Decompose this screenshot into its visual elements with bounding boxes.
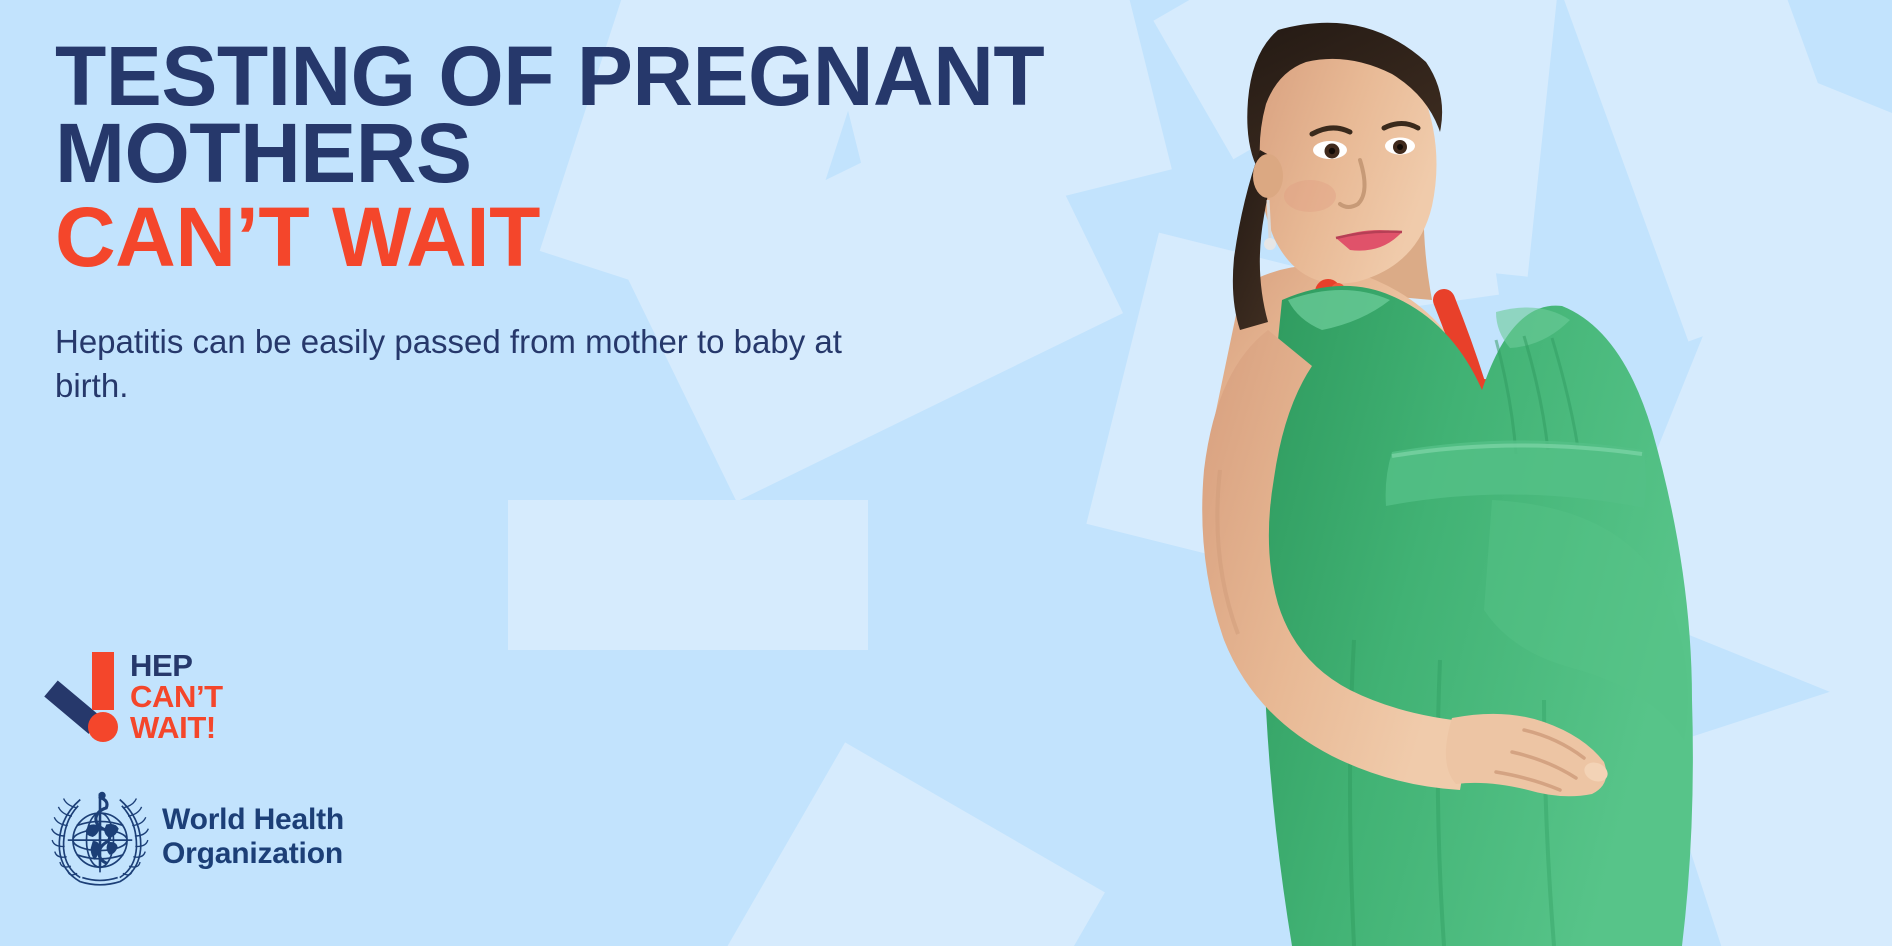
exclamation-mark-icon (52, 650, 124, 754)
campaign-banner: TESTING OF PREGNANT MOTHERS CAN’T WAIT H… (0, 0, 1892, 946)
headline-line-2: MOTHERS (55, 115, 1175, 192)
who-wordmark: World Health Organization (162, 803, 344, 870)
decor-shape (1597, 79, 1892, 722)
headline: TESTING OF PREGNANT MOTHERS CAN’T WAIT (55, 38, 1175, 282)
decor-shape (1657, 668, 1892, 946)
decor-shape (508, 500, 868, 650)
subtitle: Hepatitis can be easily passed from moth… (55, 320, 855, 407)
exclamation-dot-icon (88, 712, 118, 742)
decor-shape (1086, 233, 1333, 568)
decor-shape (1153, 0, 1406, 159)
decor-shape (1251, 0, 1499, 321)
headline-accent: CAN’T WAIT (55, 193, 1175, 282)
hep-cant-wait-wordmark: HEP CAN’T WAIT! (130, 650, 223, 743)
headline-line-1: TESTING OF PREGNANT (55, 38, 1175, 115)
decor-shape (1378, 0, 1571, 277)
pregnant-woman-photo (1092, 0, 1892, 946)
hep-cant-wait-logo: HEP CAN’T WAIT! (52, 650, 292, 760)
who-emblem-icon (48, 785, 152, 889)
decor-shape (715, 742, 1105, 946)
decor-shape (1524, 0, 1886, 341)
logo-text-cant: CAN’T (130, 681, 223, 712)
who-name-line-2: Organization (162, 837, 344, 871)
logo-text-hep: HEP (130, 650, 223, 681)
exclamation-bar-icon (92, 652, 114, 710)
who-name-line-1: World Health (162, 803, 344, 837)
who-logo: World Health Organization (48, 782, 388, 892)
logo-text-wait: WAIT! (130, 712, 223, 743)
